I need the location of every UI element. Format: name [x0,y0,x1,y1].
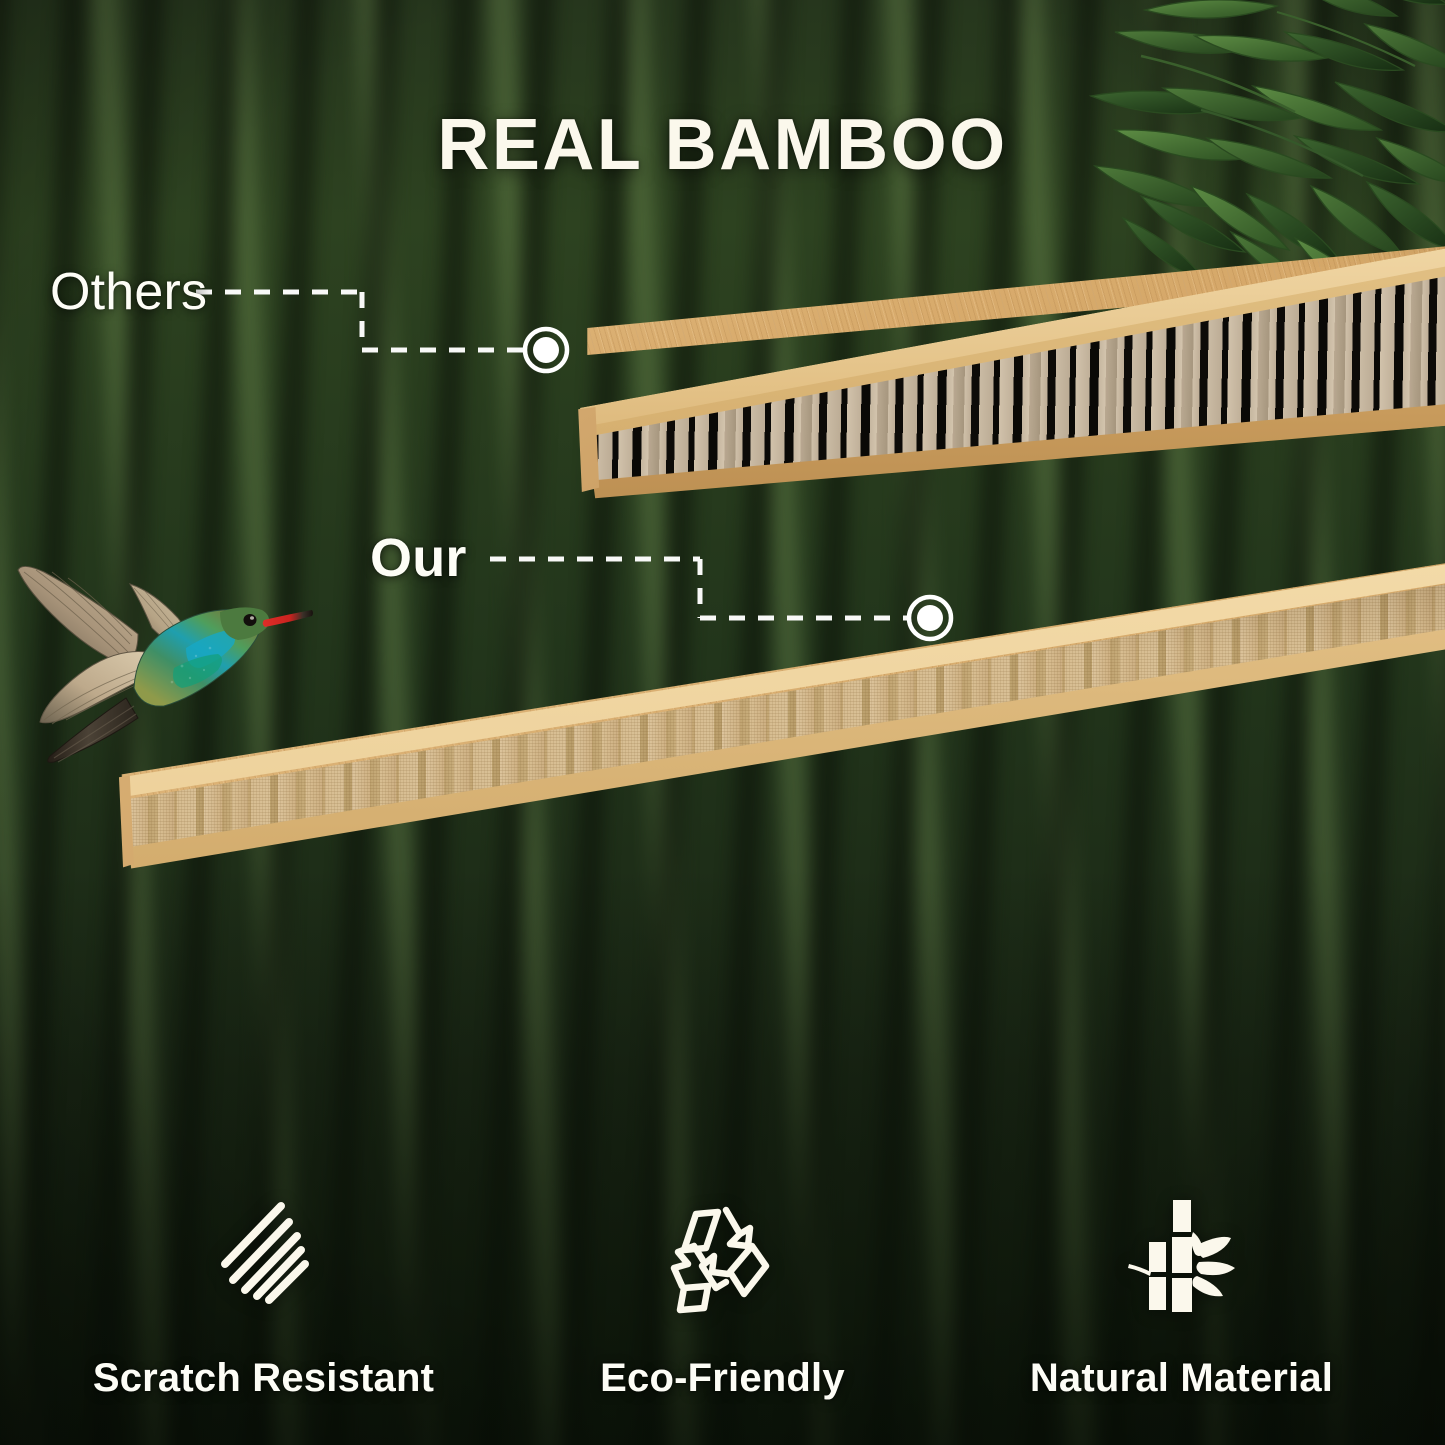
bamboo-stalk-icon [1115,1190,1247,1322]
product-feature-image: REAL BAMBOO Others Our Scratch Resistant [0,0,1445,1445]
feature-natural-material: Natural Material [952,1190,1411,1401]
others-board [560,244,1445,534]
callout-label-others: Others [50,262,207,322]
recycle-icon [656,1190,788,1322]
page-title: REAL BAMBOO [0,104,1445,186]
scratch-lines-icon [197,1190,329,1322]
feature-label-eco-friendly: Eco-Friendly [600,1356,845,1401]
feature-scratch-resistant: Scratch Resistant [34,1190,493,1401]
others-board-edge [560,244,1445,534]
callout-label-our: Our [370,527,467,589]
feature-eco-friendly: Eco-Friendly [493,1190,952,1401]
feature-label-natural-material: Natural Material [1030,1356,1333,1401]
feature-row: Scratch Resistant [0,1190,1445,1401]
hummingbird [14,556,314,786]
feature-label-scratch-resistant: Scratch Resistant [93,1356,434,1401]
